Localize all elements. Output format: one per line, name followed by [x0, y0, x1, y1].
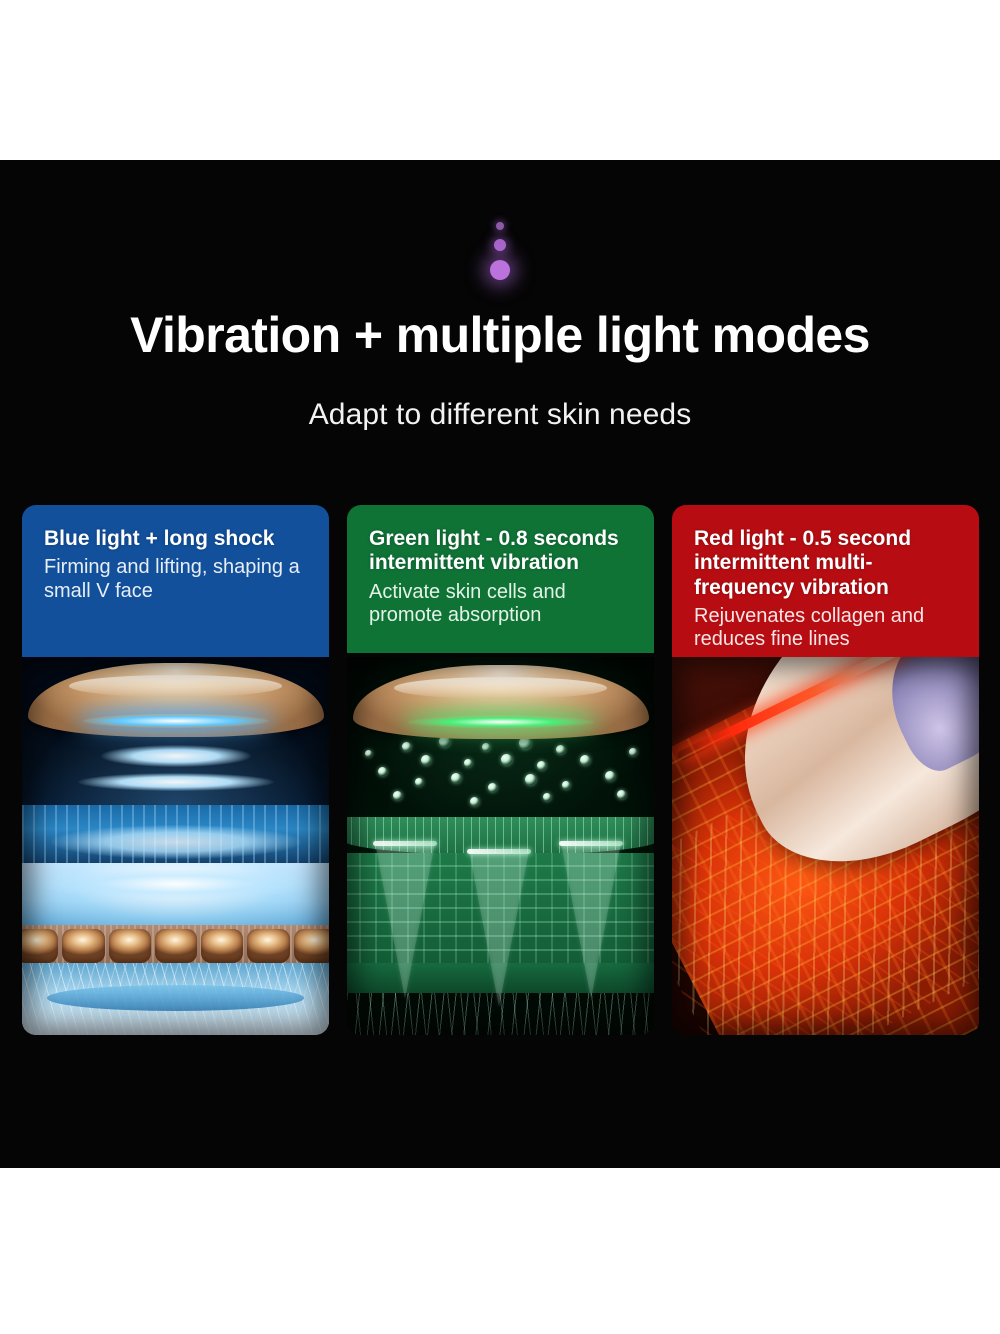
- mode-title-green: Green light - 0.8 seconds intermittent v…: [369, 527, 632, 576]
- molecule: [580, 755, 590, 765]
- gold-cell: [109, 929, 151, 963]
- green-light-cell-absorption-illustration: [347, 657, 654, 1035]
- molecule: [525, 774, 536, 785]
- mode-description-red: Rejuvenates collagen and reduces fine li…: [694, 605, 957, 652]
- molecule: [519, 737, 531, 749]
- molecule: [393, 791, 402, 800]
- molecule: [402, 742, 411, 751]
- absorbed-molecules-group: [347, 733, 654, 819]
- molecule: [501, 754, 512, 765]
- mode-card-red-text: Red light - 0.5 second intermittent mult…: [672, 505, 979, 657]
- molecule: [451, 773, 461, 783]
- molecule: [605, 771, 615, 781]
- purple-dot-large: [490, 260, 510, 280]
- page-title: Vibration + multiple light modes: [0, 310, 1000, 360]
- mode-description-green: Activate skin cells and promote absorpti…: [369, 581, 632, 628]
- blue-collagen-fibers: [22, 963, 329, 1035]
- molecule: [421, 755, 431, 765]
- molecule: [365, 750, 372, 757]
- blue-gold-cell-row: [22, 925, 329, 967]
- mode-title-blue: Blue light + long shock: [44, 527, 307, 551]
- funnel-cap: [467, 849, 531, 854]
- blue-light-emitter: [83, 714, 269, 728]
- molecule: [562, 781, 570, 789]
- funnel-cap: [559, 841, 623, 846]
- molecule: [464, 759, 472, 767]
- molecule: [482, 743, 490, 751]
- mode-description-blue: Firming and lifting, shaping a small V f…: [44, 556, 307, 603]
- blue-light-ring: [101, 745, 251, 767]
- absorption-funnel: [561, 843, 621, 999]
- mode-card-blue-text: Blue light + long shock Firming and lift…: [22, 505, 329, 657]
- red-light-collagen-illustration: [672, 657, 979, 1035]
- molecule: [629, 748, 637, 756]
- top-letterbox: [0, 0, 1000, 160]
- molecule: [543, 793, 551, 801]
- green-light-emitter: [408, 715, 594, 729]
- mode-card-blue[interactable]: Blue light + long shock Firming and lift…: [22, 505, 329, 1050]
- mode-card-red[interactable]: Red light - 0.5 second intermittent mult…: [672, 505, 979, 1050]
- blue-light-ring: [78, 773, 274, 791]
- funnel-cap: [373, 841, 437, 846]
- mode-card-green-text: Green light - 0.8 seconds intermittent v…: [347, 505, 654, 653]
- page-subtitle: Adapt to different skin needs: [0, 400, 1000, 430]
- promo-page: Vibration + multiple light modes Adapt t…: [0, 0, 1000, 1334]
- absorption-funnel: [375, 843, 435, 999]
- gold-cell: [201, 929, 243, 963]
- blue-light-ring: [36, 869, 316, 899]
- gold-cell: [247, 929, 289, 963]
- gold-cell: [62, 929, 104, 963]
- absorption-funnel: [469, 851, 529, 1007]
- molecule: [537, 761, 546, 770]
- gold-cell: [155, 929, 197, 963]
- molecule: [488, 783, 497, 792]
- bottom-letterbox: [0, 1168, 1000, 1334]
- gold-cell: [294, 929, 329, 963]
- molecule: [378, 767, 387, 776]
- mode-title-red: Red light - 0.5 second intermittent mult…: [694, 527, 957, 600]
- blue-light-ring: [51, 825, 301, 859]
- purple-dot-small: [496, 222, 504, 230]
- dark-stage: Vibration + multiple light modes Adapt t…: [0, 160, 1000, 1168]
- three-purple-dots-icon: [0, 222, 1000, 280]
- purple-dot-medium: [494, 239, 506, 251]
- molecule: [617, 790, 626, 799]
- mode-card-green[interactable]: Green light - 0.8 seconds intermittent v…: [347, 505, 654, 1050]
- gold-cell: [22, 929, 58, 963]
- molecule: [415, 778, 423, 786]
- molecule: [556, 745, 565, 754]
- blue-light-skin-layers-illustration: [22, 657, 329, 1035]
- light-modes-row: Blue light + long shock Firming and lift…: [22, 505, 978, 1050]
- molecule: [470, 797, 479, 806]
